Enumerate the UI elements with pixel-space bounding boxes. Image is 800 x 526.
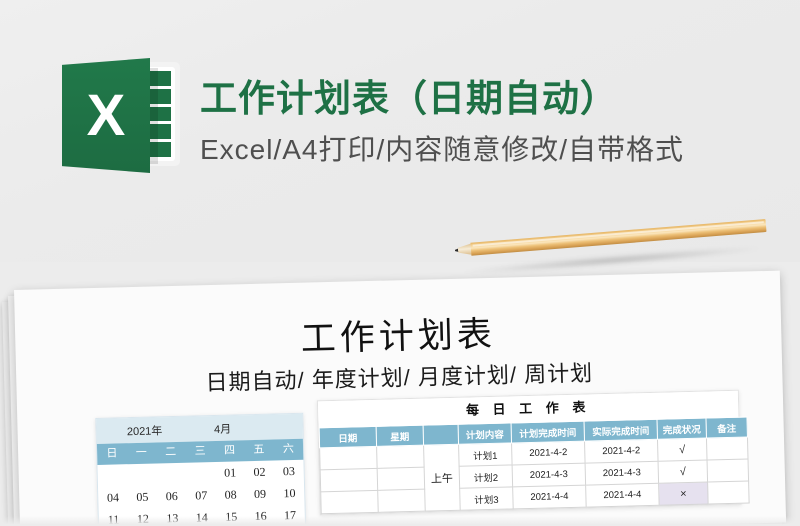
calendar-month: 4月 — [192, 420, 252, 438]
calendar-weekday: 日 — [97, 443, 127, 465]
cell-plan[interactable]: 计划2 — [459, 465, 513, 488]
cell-status[interactable]: × — [659, 482, 709, 505]
calendar-day[interactable]: 03 — [274, 460, 304, 483]
promo-banner: X 工作计划表（日期自动） Excel/A4打印/内容随意修改/自带格式 — [0, 0, 800, 262]
cell-weekday[interactable] — [377, 467, 425, 490]
calendar-weekday: 五 — [244, 439, 274, 461]
calendar-weekday: 二 — [156, 442, 186, 464]
calendar-widget[interactable]: 2021年 4月 日 一 二 三 四 五 六 01 — [95, 413, 306, 526]
calendar-day[interactable]: 02 — [245, 460, 275, 483]
cell-plan[interactable]: 计划1 — [459, 443, 513, 466]
calendar-day[interactable]: 06 — [157, 485, 187, 508]
cell-actual-time[interactable]: 2021-4-4 — [586, 483, 660, 507]
col-weekday[interactable]: 星期 — [376, 425, 423, 446]
paper-stack: 工作计划表 日期自动/ 年度计划/ 月度计划/ 周计划 2021年 4月 日 一… — [0, 280, 790, 526]
promo-subheadline: Excel/A4打印/内容随意修改/自带格式 — [200, 128, 800, 168]
cell-weekday[interactable] — [378, 489, 426, 512]
col-plan[interactable]: 计划内容 — [458, 423, 511, 444]
cell-plan[interactable]: 计划3 — [460, 487, 514, 510]
calendar-weekday: 四 — [215, 440, 245, 462]
col-date[interactable]: 日期 — [319, 426, 376, 447]
col-planned-time[interactable]: 计划完成时间 — [511, 421, 584, 443]
calendar-day[interactable] — [156, 463, 186, 486]
screenshot-root: X 工作计划表（日期自动） Excel/A4打印/内容随意修改/自带格式 工作计… — [0, 0, 800, 526]
calendar-weekday: 六 — [273, 439, 303, 461]
cell-note[interactable] — [707, 459, 749, 482]
cell-actual-time[interactable]: 2021-4-2 — [585, 439, 659, 463]
cell-date[interactable] — [320, 446, 378, 469]
calendar-year: 2021年 — [96, 421, 192, 439]
calendar-day[interactable] — [186, 462, 216, 485]
calendar-day[interactable] — [97, 464, 127, 487]
col-actual-time[interactable]: 实际完成时间 — [584, 419, 657, 441]
col-ampm[interactable] — [423, 424, 458, 445]
bottom-fade — [0, 516, 800, 526]
calendar-day[interactable]: 01 — [215, 461, 245, 484]
promo-headline: 工作计划表（日期自动） — [200, 68, 780, 122]
document-preview[interactable]: 工作计划表 日期自动/ 年度计划/ 月度计划/ 周计划 2021年 4月 日 一… — [14, 271, 786, 526]
calendar-weekday: 三 — [185, 441, 215, 463]
excel-logo: X — [62, 58, 180, 173]
col-status[interactable]: 完成状况 — [657, 418, 706, 439]
cell-note[interactable] — [708, 481, 750, 504]
cell-planned-time[interactable]: 2021-4-3 — [512, 463, 586, 487]
excel-logo-letter-x: X — [62, 58, 150, 173]
calendar-day[interactable]: 09 — [245, 482, 275, 505]
calendar-day[interactable]: 10 — [275, 482, 305, 505]
calendar-day[interactable]: 07 — [186, 484, 216, 507]
calendar-day[interactable]: 05 — [127, 485, 157, 508]
calendar-weekday: 一 — [126, 442, 156, 464]
cell-planned-time[interactable]: 2021-4-4 — [513, 485, 587, 509]
col-note[interactable]: 备注 — [706, 417, 747, 438]
cell-note[interactable] — [706, 437, 748, 460]
cell-date[interactable] — [320, 468, 378, 491]
cell-status[interactable]: √ — [658, 460, 708, 483]
calendar-day[interactable]: 04 — [98, 486, 128, 509]
cell-actual-time[interactable]: 2021-4-3 — [585, 461, 659, 485]
work-table[interactable]: 日期 星期 计划内容 计划完成时间 实际完成时间 完成状况 备注 — [319, 416, 750, 514]
cell-ampm[interactable]: 上午 — [424, 444, 461, 511]
cell-date[interactable] — [321, 490, 379, 513]
cell-planned-time[interactable]: 2021-4-2 — [512, 441, 586, 465]
calendar-day[interactable] — [127, 463, 157, 486]
calendar-day[interactable]: 08 — [216, 483, 246, 506]
cell-status[interactable]: √ — [657, 438, 707, 461]
work-table-widget[interactable]: 每 日 工 作 表 日期 星期 计划内容 计划完成时间 实际完成时间 完成状况 … — [317, 390, 742, 516]
cell-weekday[interactable] — [377, 445, 425, 468]
